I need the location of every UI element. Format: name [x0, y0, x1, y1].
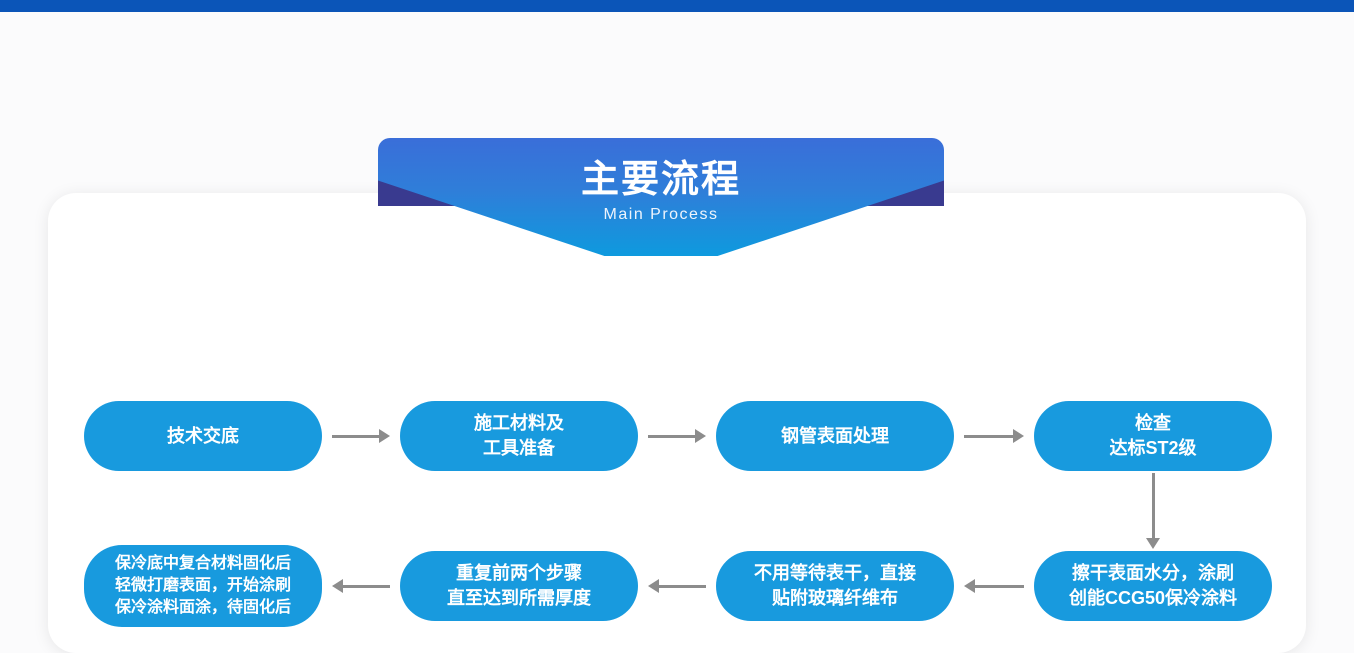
flow-step-6-line-2: 贴附玻璃纤维布: [726, 586, 944, 611]
flow-step-8-line-2: 轻微打磨表面，开始涂刷: [94, 575, 312, 597]
flow-step-7-line-2: 直至达到所需厚度: [410, 586, 628, 611]
flow-step-5[interactable]: 擦干表面水分，涂刷 创能CCG50保冷涂料: [1034, 551, 1272, 621]
flow-step-5-line-1: 擦干表面水分，涂刷: [1044, 561, 1262, 586]
flow-step-3[interactable]: 钢管表面处理: [716, 401, 954, 471]
arrow-step-7-to-8: [332, 577, 390, 595]
arrow-head-left-icon: [964, 579, 975, 593]
flow-step-4-line-1: 检查: [1044, 411, 1262, 436]
arrow-shaft-vertical: [1152, 473, 1155, 538]
arrow-head-right-icon: [379, 429, 390, 443]
flow-step-7-line-1: 重复前两个步骤: [410, 561, 628, 586]
arrow-head-down-icon: [1146, 538, 1160, 549]
arrow-step-3-to-4: [964, 427, 1024, 445]
arrow-head-right-icon: [1013, 429, 1024, 443]
flow-step-5-line-2: 创能CCG50保冷涂料: [1044, 586, 1262, 611]
arrow-head-left-icon: [648, 579, 659, 593]
flow-step-3-line-1: 钢管表面处理: [726, 424, 944, 449]
arrow-step-4-to-5: [1144, 473, 1162, 549]
arrow-shaft: [648, 435, 695, 438]
arrow-head-right-icon: [695, 429, 706, 443]
arrow-shaft: [975, 585, 1024, 588]
banner-trapezoid: [378, 138, 944, 256]
arrow-step-1-to-2: [332, 427, 390, 445]
flow-step-2-line-1: 施工材料及: [410, 411, 628, 436]
flow-step-2-line-2: 工具准备: [410, 436, 628, 461]
section-banner: 主要流程 Main Process: [378, 138, 944, 256]
arrow-shaft: [332, 435, 379, 438]
flow-step-7[interactable]: 重复前两个步骤 直至达到所需厚度: [400, 551, 638, 621]
arrow-shaft: [964, 435, 1013, 438]
arrow-shaft: [659, 585, 706, 588]
arrow-step-2-to-3: [648, 427, 706, 445]
flow-step-4-line-2: 达标ST2级: [1044, 436, 1262, 461]
flow-step-6-line-1: 不用等待表干，直接: [726, 561, 944, 586]
flow-step-8[interactable]: 保冷底中复合材料固化后 轻微打磨表面，开始涂刷 保冷涂料面涂，待固化后: [84, 545, 322, 627]
flow-step-1-line-1: 技术交底: [94, 424, 312, 449]
flow-step-6[interactable]: 不用等待表干，直接 贴附玻璃纤维布: [716, 551, 954, 621]
flow-step-4[interactable]: 检查 达标ST2级: [1034, 401, 1272, 471]
arrow-step-5-to-6: [964, 577, 1024, 595]
flow-step-1[interactable]: 技术交底: [84, 401, 322, 471]
arrow-step-6-to-7: [648, 577, 706, 595]
arrow-shaft: [343, 585, 390, 588]
top-accent-bar: [0, 0, 1354, 12]
flow-step-8-line-1: 保冷底中复合材料固化后: [94, 553, 312, 575]
arrow-head-left-icon: [332, 579, 343, 593]
flow-step-8-line-3: 保冷涂料面涂，待固化后: [94, 597, 312, 619]
flow-step-2[interactable]: 施工材料及 工具准备: [400, 401, 638, 471]
